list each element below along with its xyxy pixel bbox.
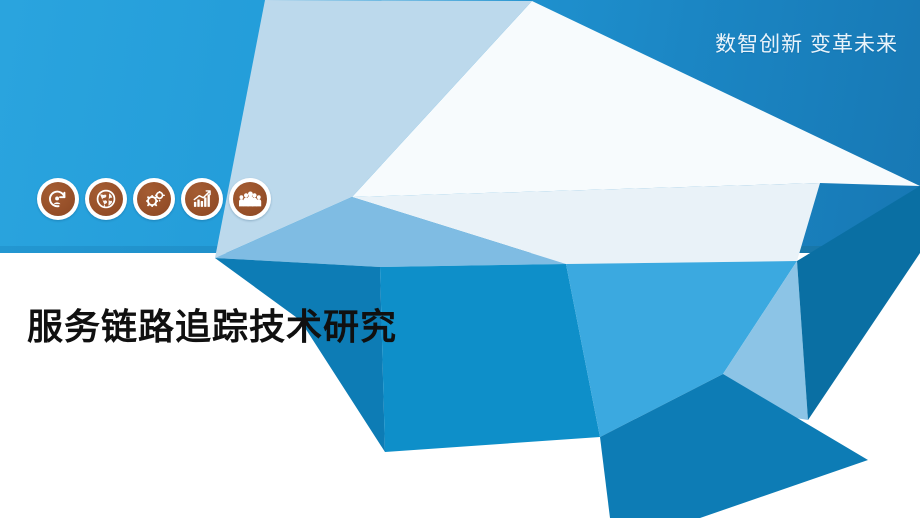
page-title: 服务链路追踪技术研究 — [27, 298, 397, 350]
refresh-cycle-icon — [41, 182, 75, 216]
icon-badge-gears[interactable] — [133, 178, 175, 220]
people-group-icon — [233, 182, 267, 216]
gears-icon — [137, 182, 171, 216]
tagline-text: 数智创新 变革未来 — [715, 28, 898, 58]
deep-left-fold — [215, 258, 385, 452]
icon-badge-people-group[interactable] — [229, 178, 271, 220]
icon-badge-row — [37, 178, 271, 220]
bottom-tail — [600, 374, 868, 518]
bar-chart-icon — [185, 182, 219, 216]
banner-bottom-edge — [0, 246, 920, 253]
icon-badge-bar-chart[interactable] — [181, 178, 223, 220]
slide-canvas: 数智创新 变革未来 — [0, 0, 920, 518]
icon-badge-refresh-cycle[interactable] — [37, 178, 79, 220]
mid-right-fold — [566, 261, 797, 437]
blue-center-fold — [380, 264, 600, 452]
globe-icon — [89, 182, 123, 216]
icon-badge-globe[interactable] — [85, 178, 127, 220]
light-right-fold — [723, 261, 808, 420]
